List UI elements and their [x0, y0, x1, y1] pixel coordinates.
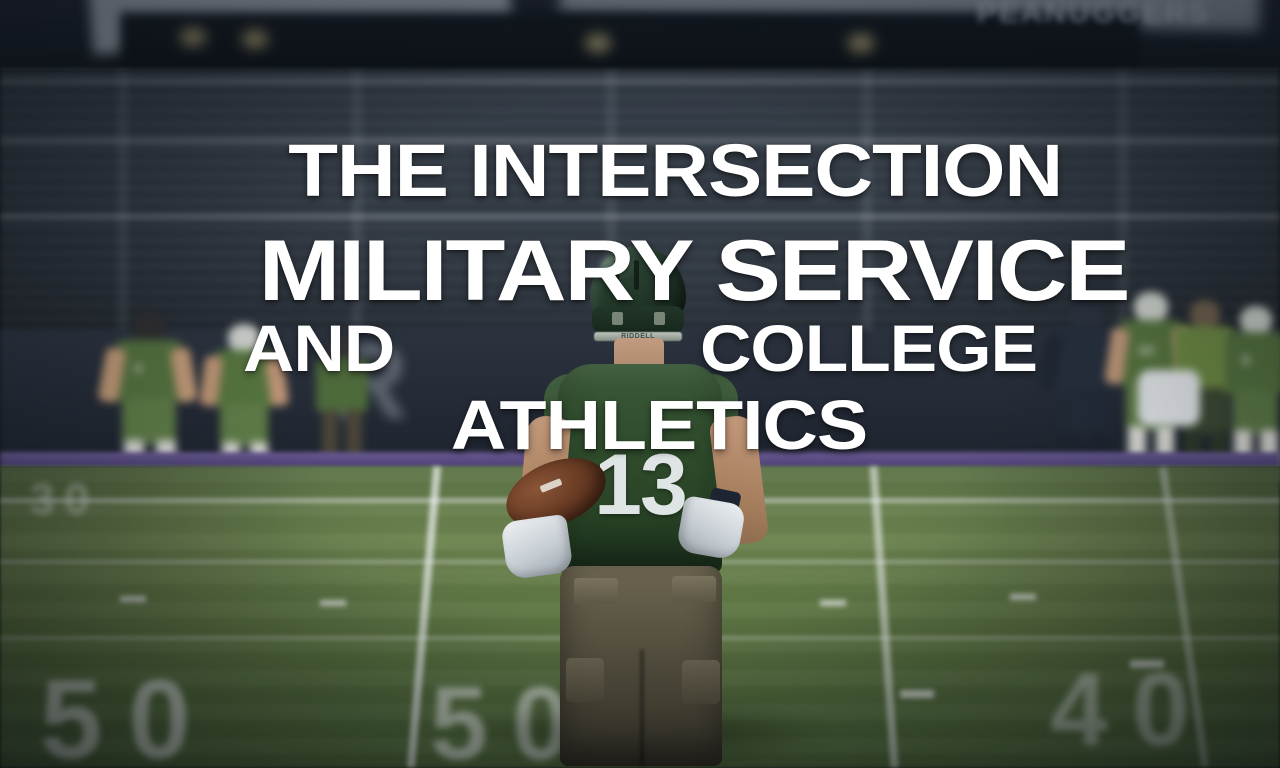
knee-pocket-left: [566, 658, 604, 702]
stadium-signage-text: PEANUGGERS: [977, 0, 1210, 30]
glove-right: [676, 495, 747, 561]
cargo-pocket-left: [574, 578, 618, 604]
pant-leg-seam: [640, 650, 644, 766]
banner-image: PEANUGGERS R 4: [0, 0, 1280, 768]
stadium-light-3: [585, 34, 611, 52]
stadium-light-4: [848, 34, 874, 52]
helmet-vent-3: [654, 260, 659, 290]
helmet-clip-right: [654, 312, 665, 325]
knee-pocket-right: [682, 660, 720, 704]
helmet-vent-2: [634, 260, 639, 290]
foreground-football-player: RIDDELL 13: [482, 246, 802, 768]
cargo-pocket-right: [672, 576, 716, 602]
stadium-light-2: [242, 30, 268, 48]
helmet-vent-1: [614, 260, 619, 290]
background-equipment-bag: [1138, 370, 1208, 440]
helmet-clip-left: [612, 312, 623, 325]
stadium-light-1: [180, 28, 206, 46]
